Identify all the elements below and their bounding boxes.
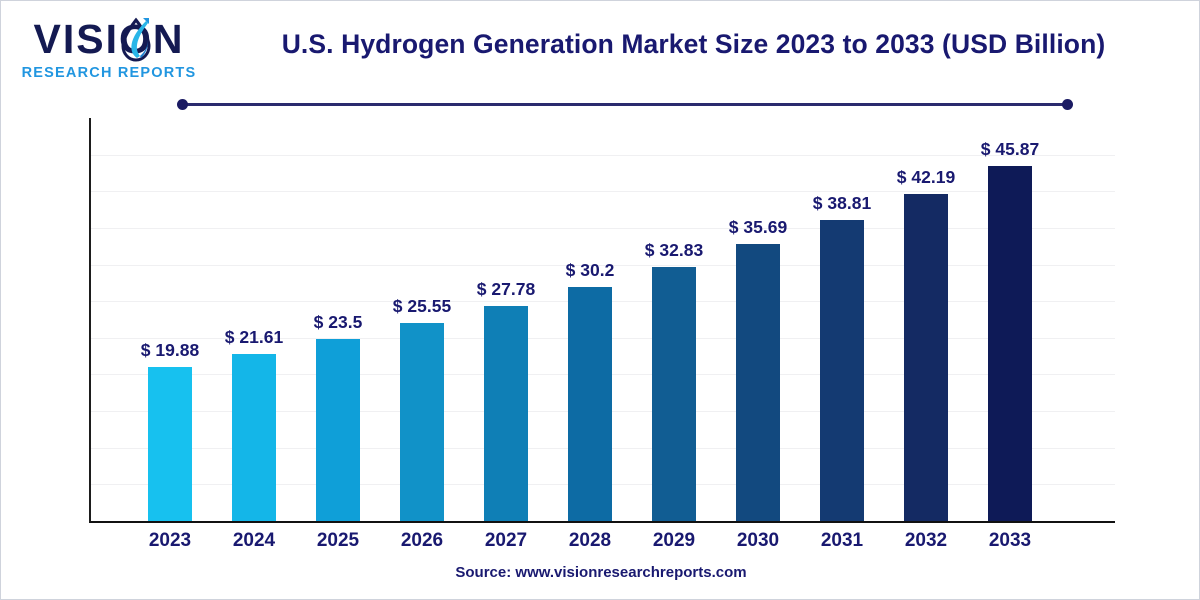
axis-frame [89,118,1115,523]
water-droplet-arrow-icon [115,16,155,64]
divider-dot-left [177,99,188,110]
brand-name: VISION [19,15,199,63]
x-axis-tick-labels: 2023202420252026202720282029203020312032… [89,530,1115,558]
x-tick-label: 2033 [950,530,1070,552]
plot-area: $ 19.88$ 21.61$ 23.5$ 25.55$ 27.78$ 30.2… [89,118,1115,523]
chart-title: U.S. Hydrogen Generation Market Size 202… [201,29,1186,60]
divider-dot-right [1062,99,1073,110]
source-note: Source: www.visionresearchreports.com [1,564,1200,581]
title-divider [179,99,1071,111]
brand-logo: VISION RESEARCH REPORTS [19,15,199,87]
divider-line [179,103,1071,106]
chart-page: VISION RESEARCH REPORTS U.S. Hydrogen Ge… [0,0,1200,600]
brand-tagline: RESEARCH REPORTS [19,65,199,81]
